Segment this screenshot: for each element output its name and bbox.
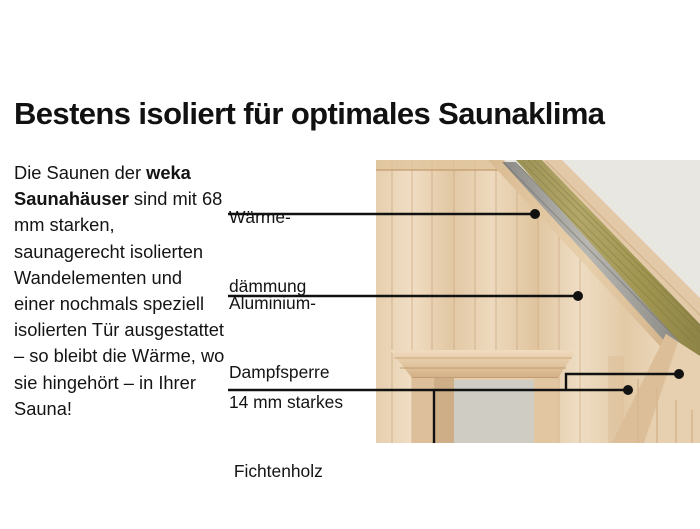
callout-label-line-2: Fichtenholz	[229, 460, 343, 483]
page-title: Bestens isoliert für optimales Saunaklim…	[14, 96, 694, 132]
callout-label-line-1: Wärme-	[229, 206, 306, 229]
door-glass-panel	[454, 380, 534, 443]
door-frame-right	[534, 378, 558, 443]
door-frame-left	[412, 378, 434, 443]
callout-label-line-1: Aluminium-	[229, 292, 330, 315]
callout-label-line-1: 14 mm starkes	[229, 391, 343, 414]
infographic-page: Bestens isoliert für optimales Saunaklim…	[0, 0, 700, 525]
sauna-wall-cutaway-photo	[376, 160, 700, 443]
corner-post-shadow	[608, 356, 624, 443]
panel-top-trim	[376, 160, 496, 170]
sauna-wall-illustration	[376, 160, 700, 443]
body-lead-2: sind mit 68 mm starken, saunagerecht iso…	[14, 188, 224, 419]
body-paragraph: Die Saunen der weka Saunahäuser sind mit…	[14, 160, 226, 422]
body-lead-1: Die Saunen der	[14, 162, 146, 183]
door-lintel-cornice	[390, 350, 576, 378]
callout-label-fichtenholz: 14 mm starkes Fichtenholz	[229, 345, 343, 529]
door-stile	[434, 378, 454, 443]
